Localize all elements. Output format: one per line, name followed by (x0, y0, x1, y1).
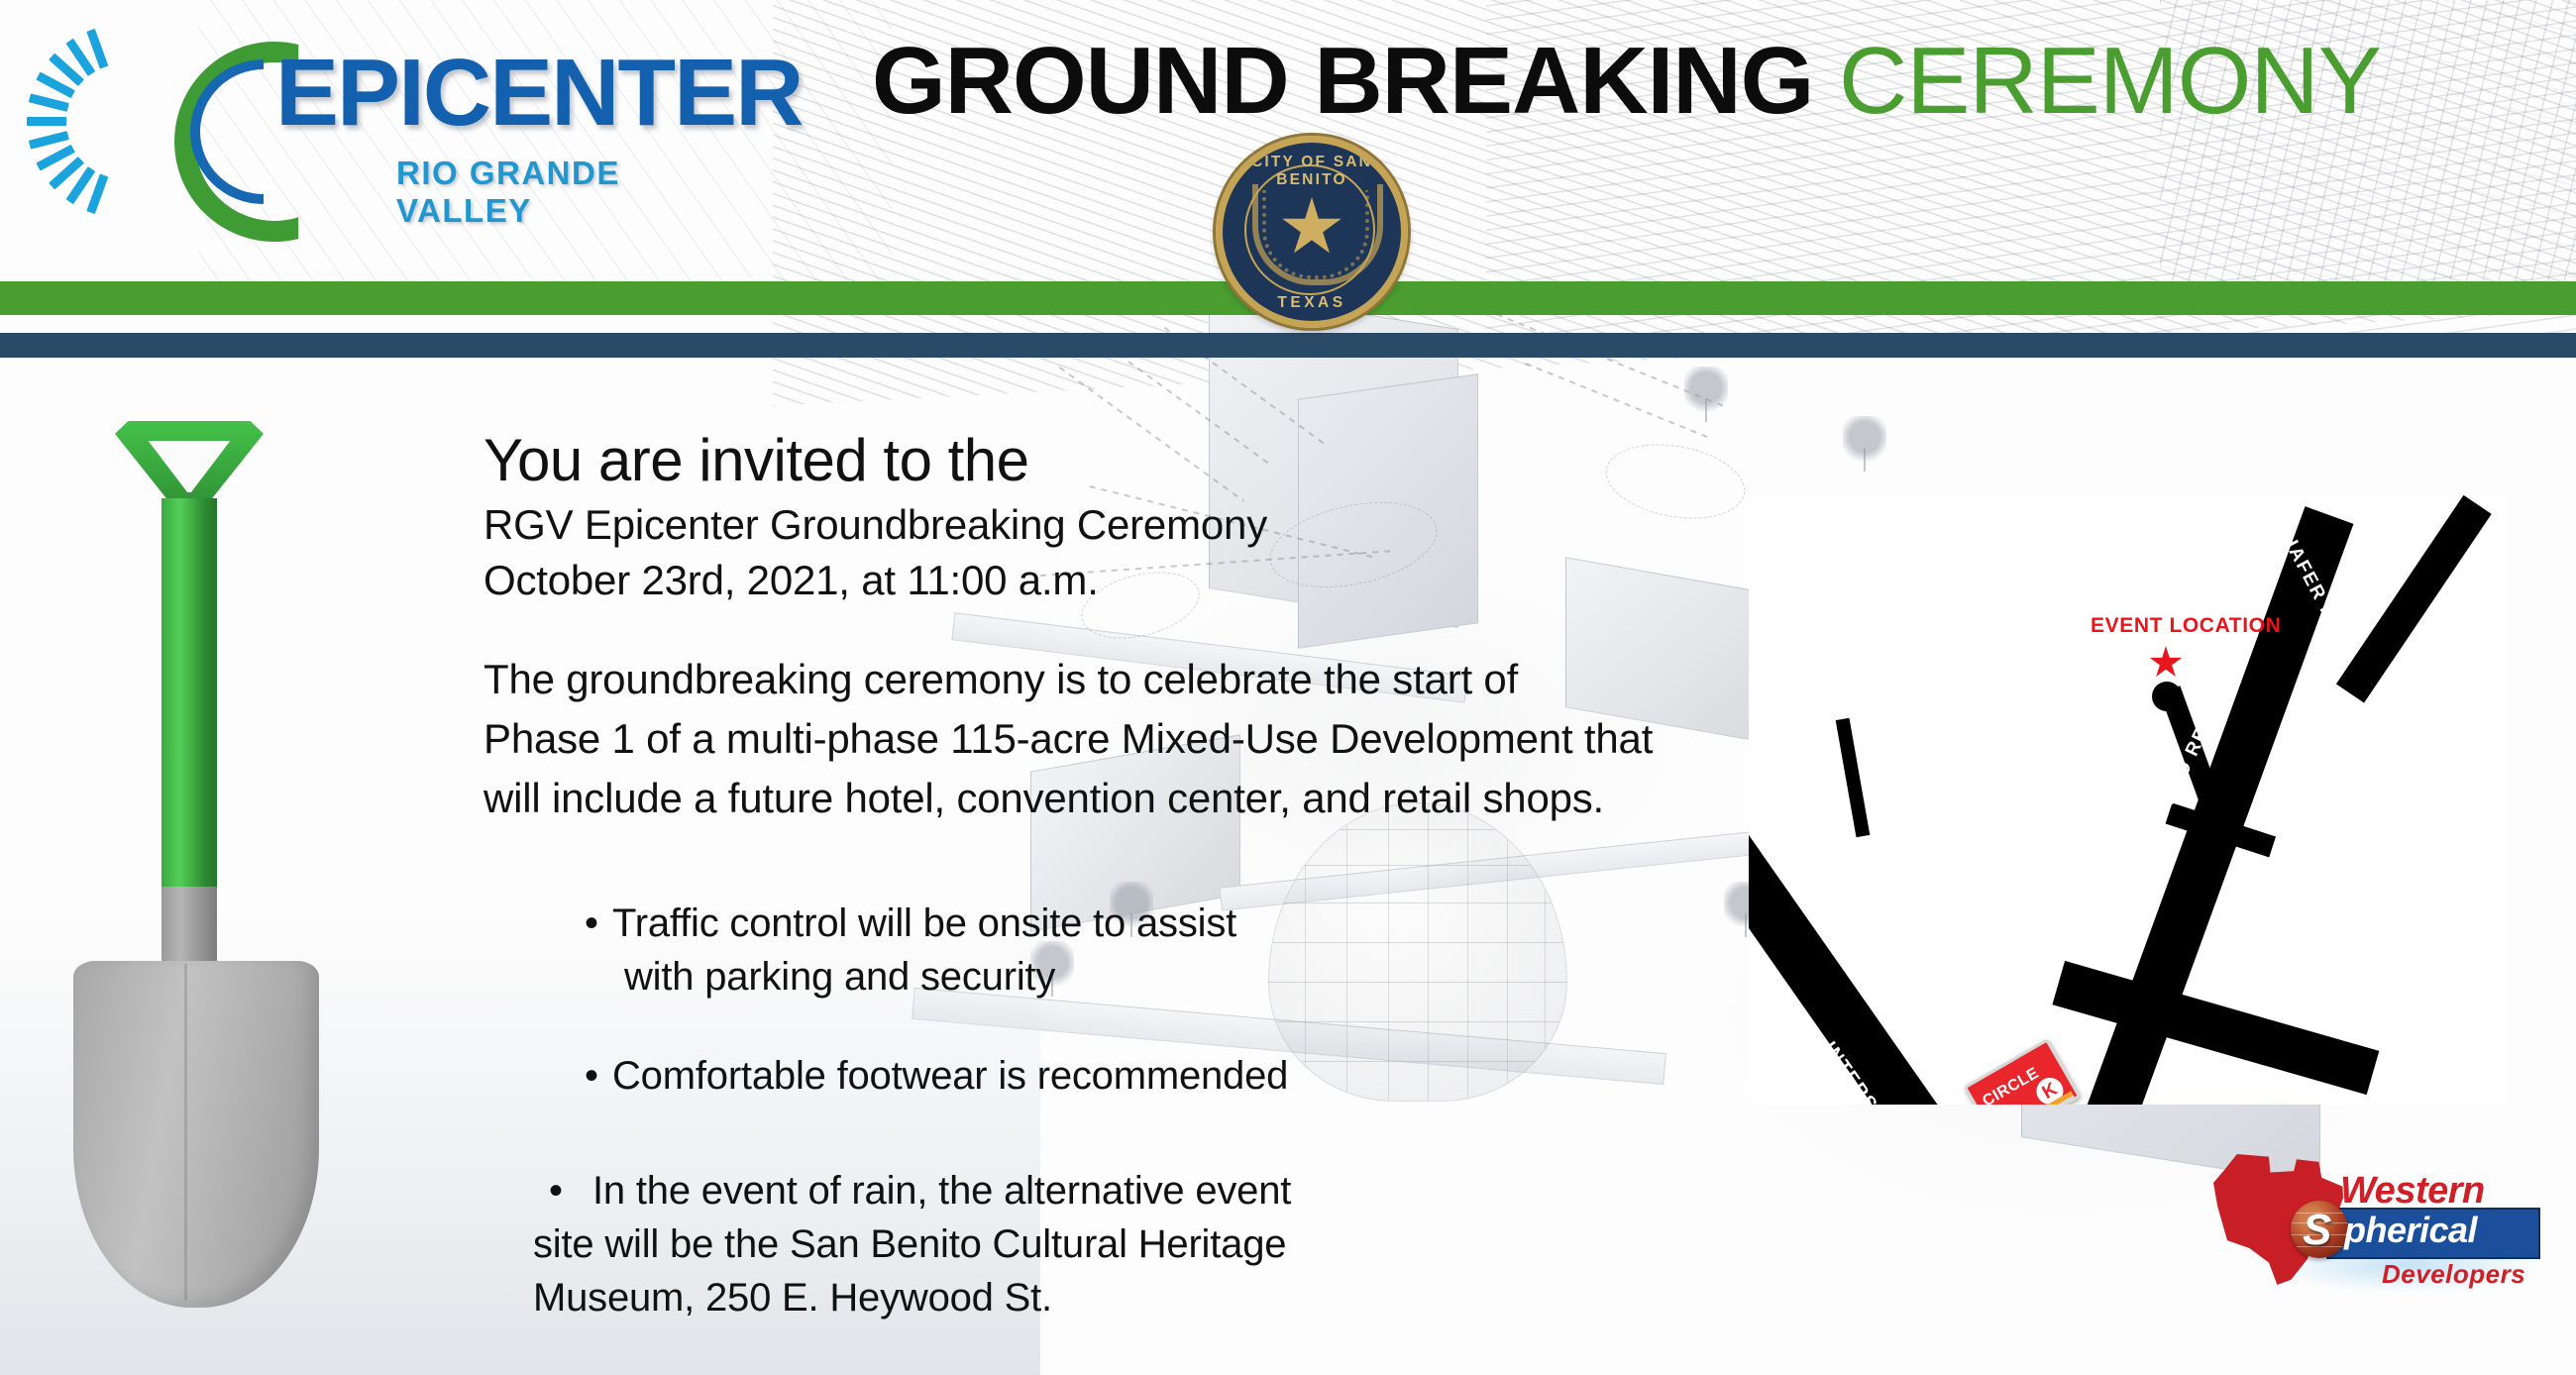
city-of-san-benito-seal: CITY OF SAN BENITO TEXAS (1216, 136, 1408, 328)
paragraph-line-2: Phase 1 of a multi-phase 115-acre Mixed-… (483, 709, 1732, 769)
seal-bottom-text: TEXAS (1223, 294, 1401, 312)
seal-top-text: CITY OF SAN BENITO (1223, 154, 1401, 189)
shovel-illustration (59, 421, 337, 1322)
bullet-3-line-3: Museum, 250 E. Heywood St. (533, 1271, 1771, 1324)
title-part-green: CEREMONY (1839, 28, 2381, 134)
plan-line (1525, 363, 1709, 438)
divider-stripe-blue (0, 333, 2576, 358)
bullet-3-line-2: site will be the San Benito Cultural Her… (533, 1217, 1771, 1271)
invitation-event-name: RGV Epicenter Groundbreaking Ceremony (483, 497, 1732, 553)
plan-tree (1684, 367, 1728, 422)
plan-line (1485, 309, 1725, 407)
event-location-dot-icon (2152, 682, 2182, 711)
paragraph-line-1: The groundbreaking ceremony is to celebr… (483, 650, 1732, 709)
shovel-shaft (161, 498, 217, 895)
invitation-event-datetime: October 23rd, 2021, at 11:00 a.m. (483, 553, 1732, 608)
circle-k-poi-icon: CIRCLE K (1964, 1038, 2082, 1105)
page-title: GROUND BREAKING CEREMONY (872, 26, 2556, 145)
plan-tree (1843, 416, 1886, 472)
bullet-glyph-icon: • (585, 897, 612, 950)
circle-k-text: CIRCLE (1980, 1065, 2042, 1105)
epicenter-logo: EPICENTER RIO GRANDE VALLEY (87, 14, 721, 212)
event-location-label: EVENT LOCATION (2091, 614, 2281, 638)
list-item: •Traffic control will be onsite to assis… (585, 897, 1773, 1004)
invitation-bullet-list: •Traffic control will be onsite to assis… (585, 897, 1773, 1148)
developer-word-spherical: pherical (2344, 1210, 2477, 1251)
list-item: •In the event of rain, the alternative e… (533, 1164, 1771, 1324)
invitation-headline: You are invited to the (483, 428, 1732, 493)
invitation-copy: You are invited to the RGV Epicenter Gro… (483, 428, 1732, 828)
developer-word-s: S (2303, 1206, 2331, 1255)
shovel-blade (73, 961, 319, 1308)
road-shafer-rd (2336, 495, 2492, 703)
logo-tagline: RIO GRANDE VALLEY (396, 155, 721, 230)
paragraph-line-3: will include a future hotel, convention … (483, 769, 1732, 828)
road-interstate-69 (1749, 778, 2003, 1105)
invitation-paragraph: The groundbreaking ceremony is to celebr… (483, 650, 1732, 828)
bullet-3-line-1: In the event of rain, the alternative ev… (592, 1169, 1291, 1213)
location-map[interactable]: EVENT LOCATION SHAFER RD F.M. 509 / PASO… (1749, 495, 2507, 1105)
shovel-blade-crease (184, 964, 187, 1301)
bullet-glyph-icon: • (533, 1164, 592, 1217)
list-item: •Comfortable footwear is recommended (585, 1049, 1773, 1103)
bullet-2-line-1: Comfortable footwear is recommended (612, 1054, 1288, 1098)
event-location-star-icon (2149, 646, 2183, 680)
bullet-glyph-icon: • (585, 1049, 612, 1103)
invitation-poster: EPICENTER RIO GRANDE VALLEY GROUND BREAK… (0, 0, 2576, 1375)
title-part-dark: GROUND BREAKING (872, 28, 1813, 134)
western-spherical-developers-logo: Western S pherical Developers (2213, 1152, 2548, 1299)
road-frontage-stub (1836, 718, 1871, 838)
bullet-1-line-2: with parking and security (585, 950, 1773, 1004)
logo-wordmark: EPICENTER (275, 46, 802, 141)
developer-word-developers: Developers (2382, 1259, 2525, 1290)
bullet-1-line-1: Traffic control will be onsite to assist (612, 901, 1236, 945)
developer-word-western: Western (2340, 1170, 2485, 1213)
